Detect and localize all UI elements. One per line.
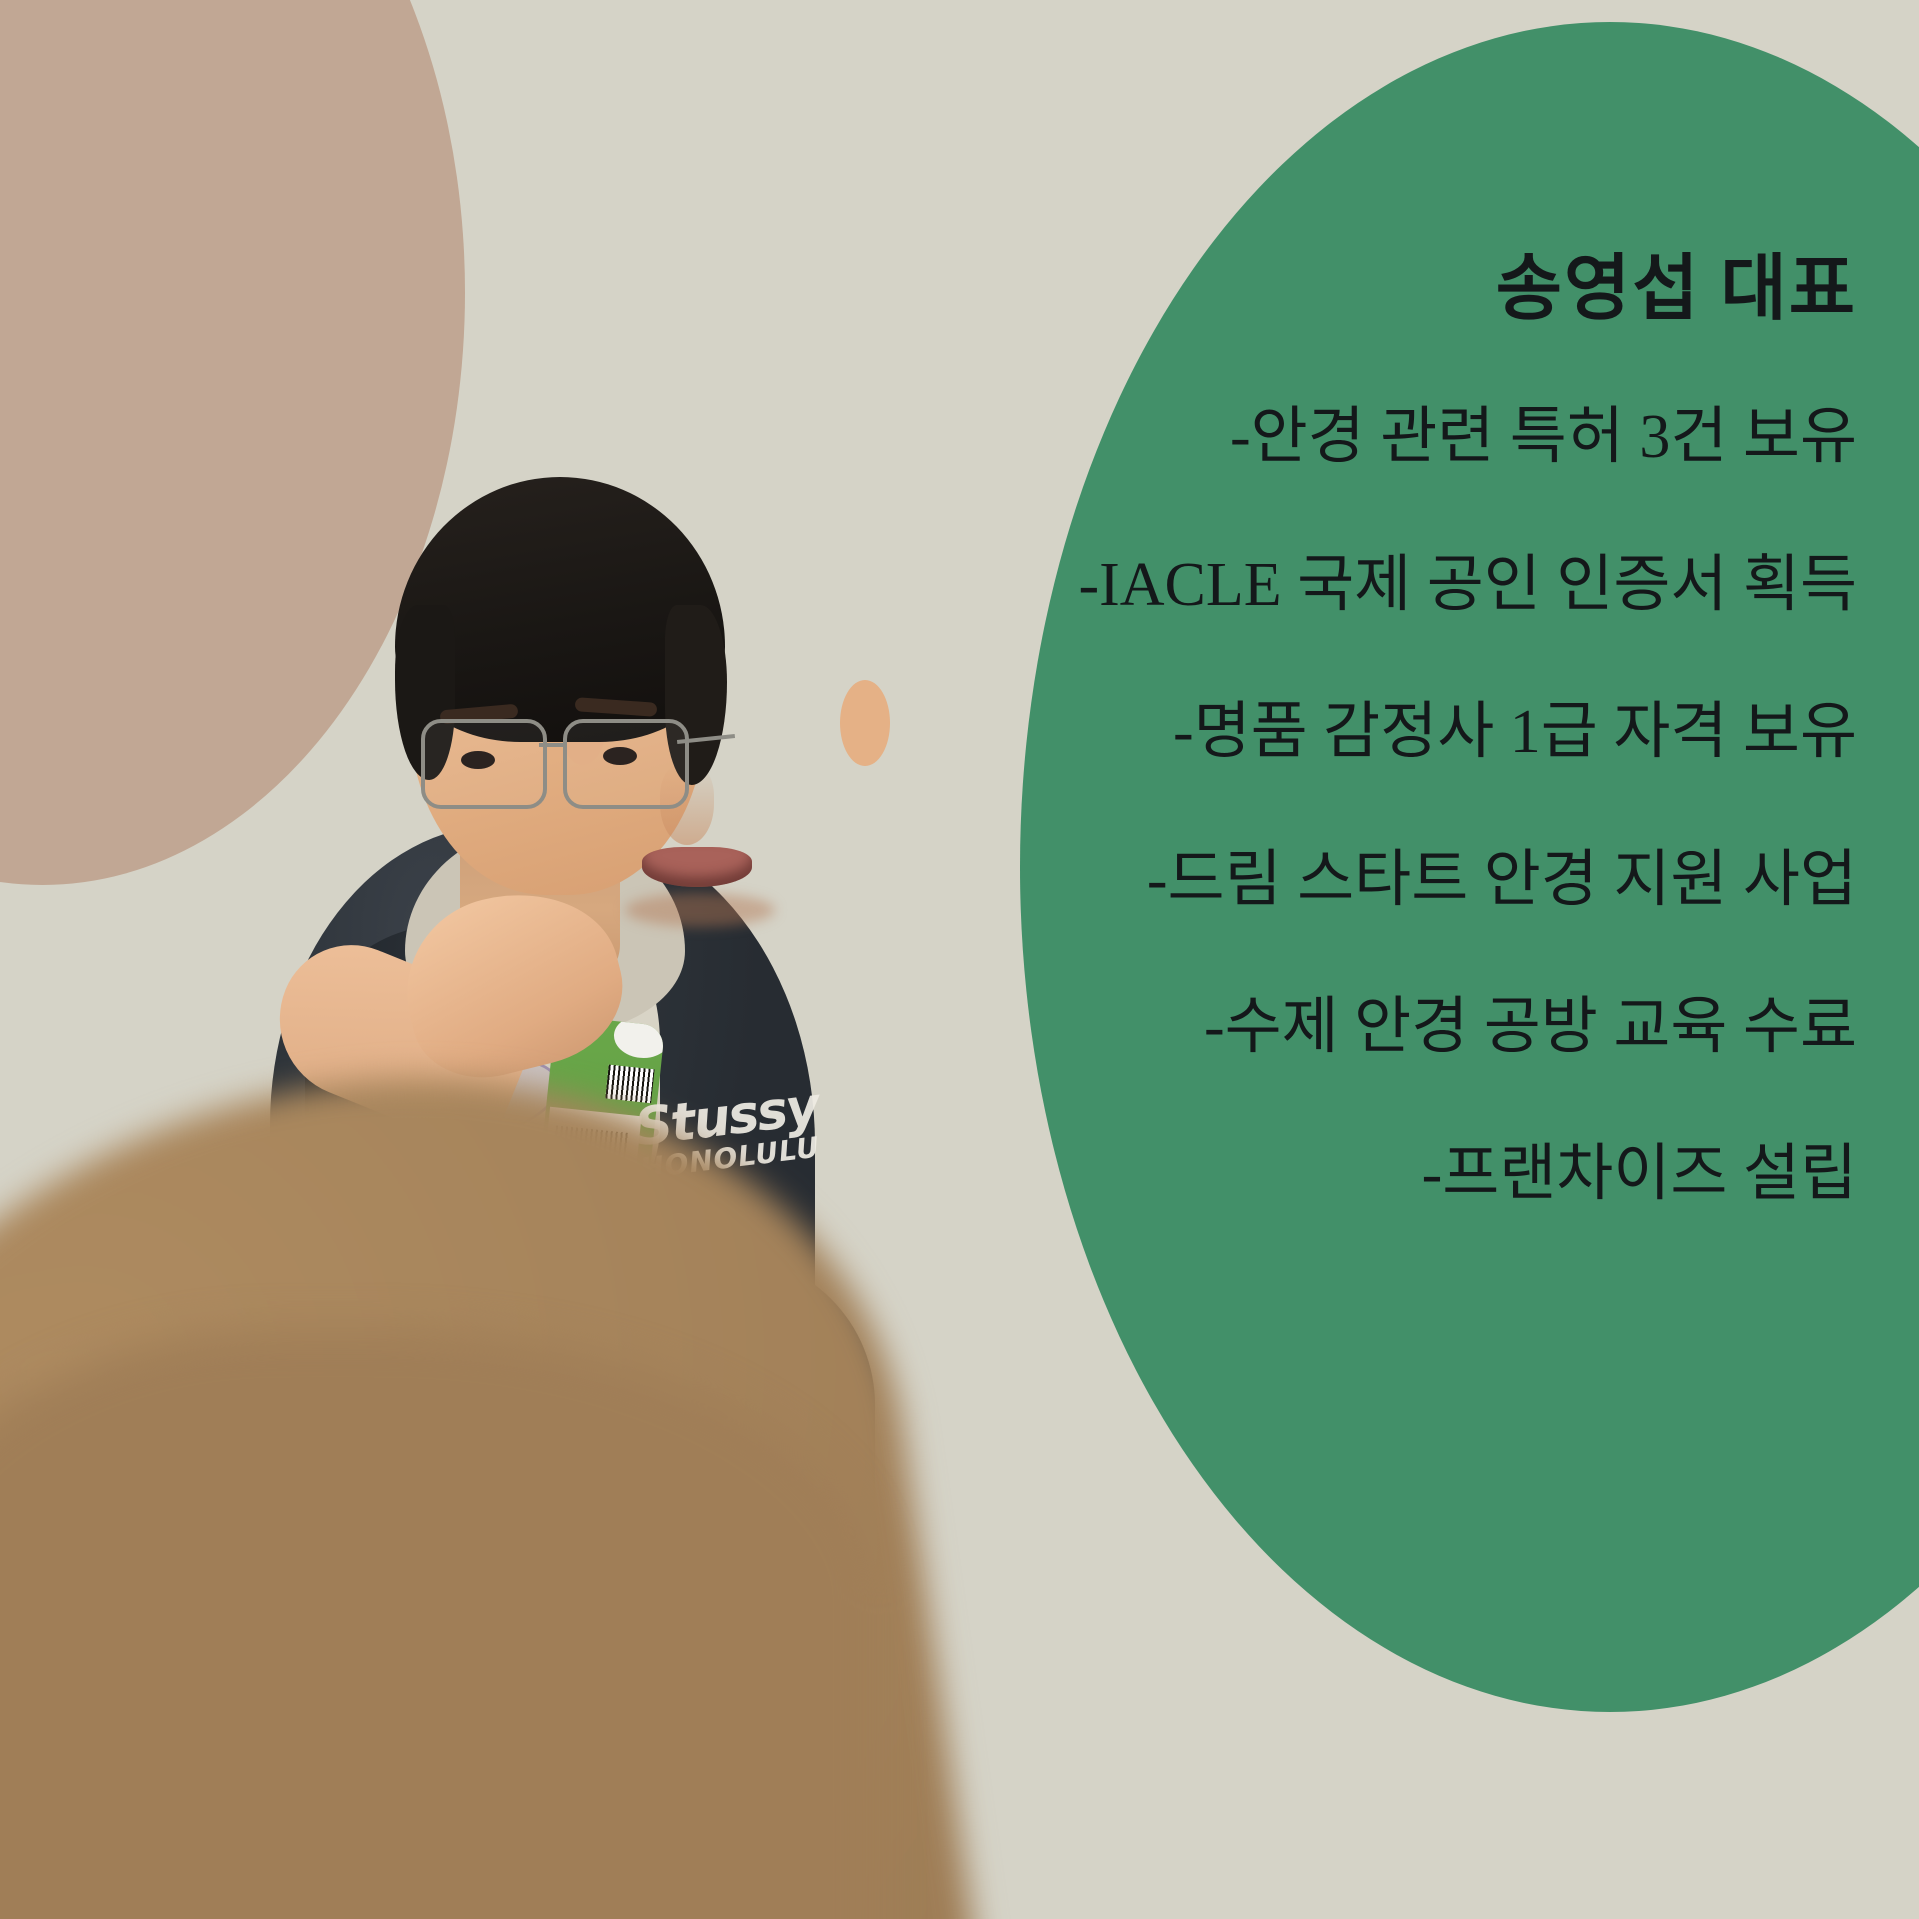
ear-right (840, 680, 890, 766)
chin-shadow (625, 893, 775, 927)
eyeglass-bridge (539, 743, 567, 747)
barcode-icon (605, 1065, 654, 1104)
eye-left (461, 751, 495, 769)
list-item: -명품 감정사 1급 자격 보유 (927, 698, 1857, 767)
eye-right (603, 747, 637, 765)
poster-canvas: Stussy HONOLULU 송영섭 대표 -안경 관련 특허 3건 보유 -… (0, 0, 1919, 1919)
eyeglasses-worn (413, 713, 713, 809)
profile-text-column: 송영섭 대표 -안경 관련 특허 3건 보유 -IACLE 국제 공인 인증서 … (927, 250, 1857, 1210)
credentials-list: -안경 관련 특허 3건 보유 -IACLE 국제 공인 인증서 획득 -명품 … (927, 403, 1857, 1210)
list-item: -수제 안경 공방 교육 수료 (927, 993, 1857, 1062)
list-item: -IACLE 국제 공인 인증서 획득 (927, 551, 1857, 620)
list-item: -드림 스타트 안경 지원 사업 (927, 846, 1857, 915)
foreground-blur-shoulder-secondary (0, 1330, 880, 1919)
mouth (642, 847, 752, 887)
list-item: -프랜차이즈 설립 (927, 1140, 1857, 1209)
list-item: -안경 관련 특허 3건 보유 (927, 403, 1857, 472)
page-title: 송영섭 대표 (927, 250, 1857, 329)
